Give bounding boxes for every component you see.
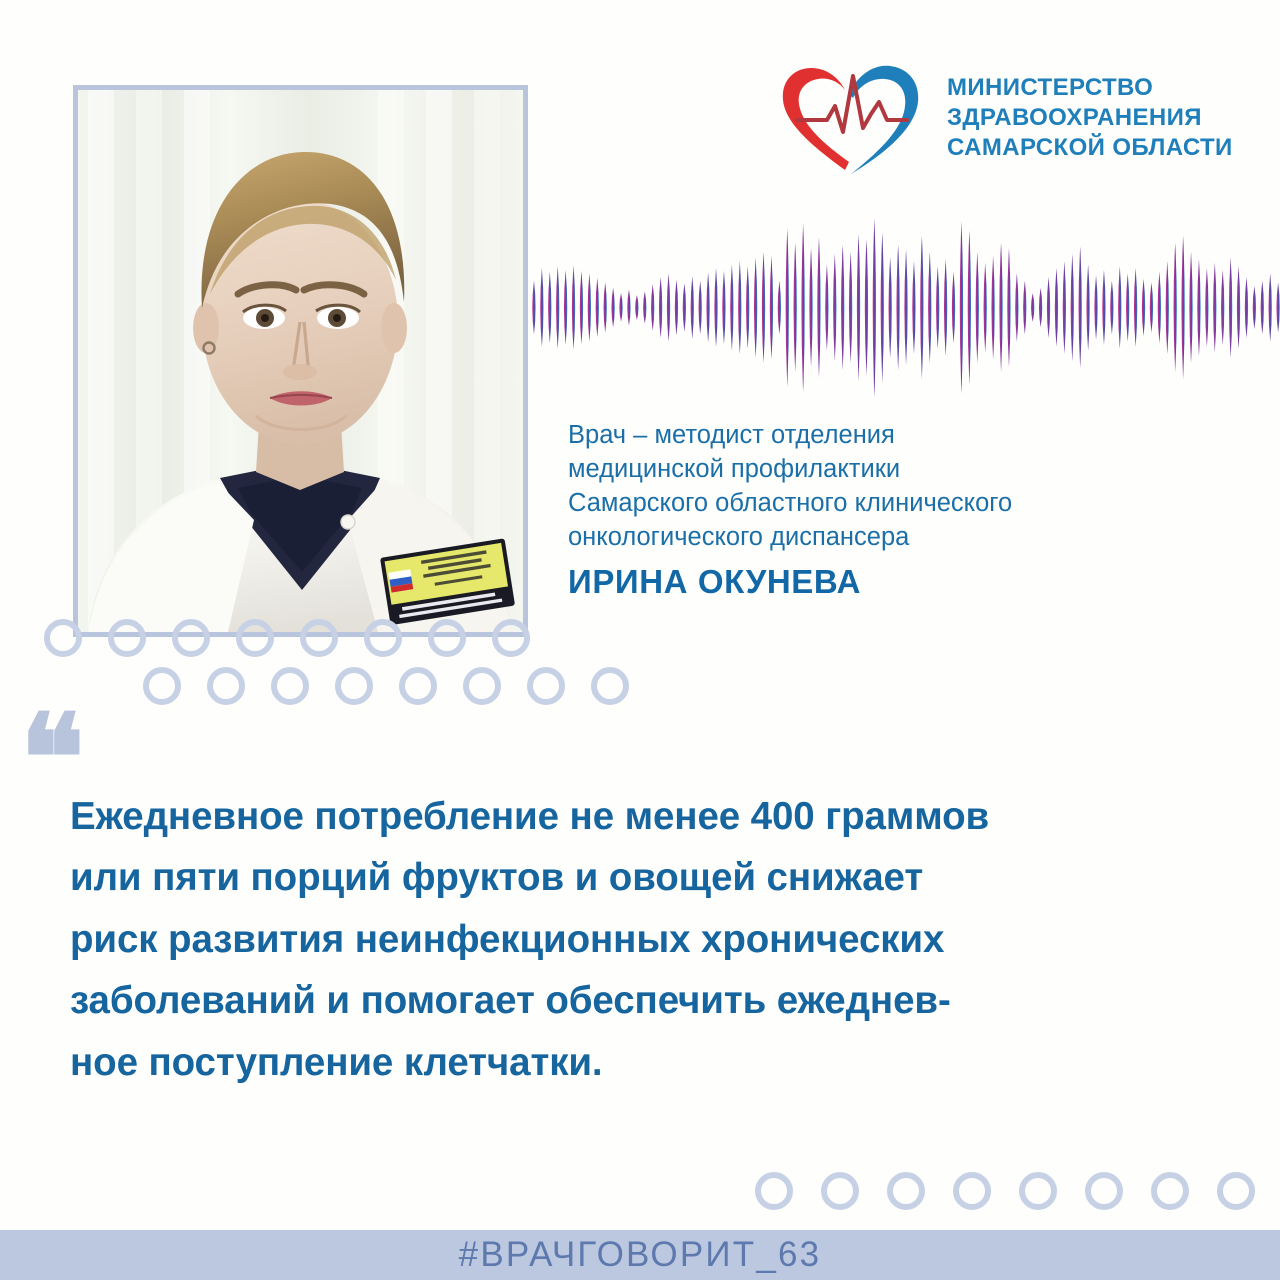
waveform-bar	[1079, 246, 1082, 368]
waveform-bar	[564, 270, 567, 345]
waveform-bar	[659, 277, 662, 338]
waveform-bar	[1245, 277, 1248, 338]
doctor-photo-frame	[73, 85, 528, 637]
waveform-bar	[1142, 279, 1145, 336]
waveform-bar	[580, 271, 583, 345]
decor-ring	[1151, 1172, 1189, 1210]
decor-ring	[44, 619, 82, 657]
waveform-bar	[857, 234, 860, 381]
quote-text: Ежедневное потребление не менее 400 грам…	[70, 786, 1250, 1093]
decor-ring	[335, 667, 373, 705]
decor-ring	[300, 619, 338, 657]
decor-ring	[236, 619, 274, 657]
waveform-bar	[699, 281, 702, 335]
waveform-bar	[1189, 252, 1192, 363]
waveform-bar	[754, 257, 757, 357]
waveform-bar	[976, 252, 979, 363]
waveform-bar	[572, 265, 575, 349]
waveform-bar	[1205, 268, 1208, 347]
decor-ring	[271, 667, 309, 705]
waveform-bar	[1197, 259, 1200, 356]
waveform-bar	[1150, 282, 1153, 332]
waveform-bar	[1158, 272, 1161, 344]
waveform-bar	[825, 264, 828, 350]
waveform-bar	[1276, 282, 1279, 332]
decor-ring	[463, 667, 501, 705]
decor-ring	[887, 1172, 925, 1210]
doctor-portrait-image	[78, 90, 523, 632]
waveform-bar	[920, 236, 923, 380]
waveform-bar	[738, 261, 741, 354]
decor-ring	[428, 619, 466, 657]
waveform-bar	[714, 268, 717, 347]
ministry-logo-text: МИНИСТЕРСТВО ЗДРАВООХРАНЕНИЯ САМАРСКОЙ О…	[947, 73, 1233, 164]
waveform-bar	[540, 268, 543, 347]
waveform-bar	[1055, 268, 1058, 347]
waveform-bar	[794, 243, 797, 372]
waveform-bar	[596, 278, 599, 337]
waveform-bar	[786, 229, 789, 387]
waveform-bar	[968, 230, 971, 384]
waveform-bar	[865, 239, 868, 375]
waveform-bar	[1221, 270, 1224, 345]
doctor-role: Врач – методист отделения медицинской пр…	[568, 418, 1228, 554]
bottom-banner: #ВРАЧГОВОРИТ_63	[0, 1230, 1280, 1280]
waveform-bar	[1253, 286, 1256, 329]
waveform-bar	[532, 281, 535, 335]
decor-ring	[364, 619, 402, 657]
decor-ring	[821, 1172, 859, 1210]
decor-ring	[143, 667, 181, 705]
waveform-bar	[1229, 257, 1232, 357]
waveform-bar	[691, 276, 694, 339]
waveform-bar	[627, 290, 630, 326]
decor-ring	[1217, 1172, 1255, 1210]
decor-ring	[399, 667, 437, 705]
decor-circle-row-bottom	[755, 1172, 1280, 1210]
waveform-bar	[984, 263, 987, 353]
decor-ring	[492, 619, 530, 657]
waveform-bar	[944, 259, 947, 356]
waveform-bar	[873, 218, 876, 397]
waveform-bar	[896, 245, 899, 371]
waveform-bar	[1181, 236, 1184, 380]
waveform-bar	[928, 252, 931, 363]
waveform-bar	[1031, 293, 1034, 322]
decor-ring	[953, 1172, 991, 1210]
waveform-bar	[762, 252, 765, 363]
waveform-bar	[1269, 273, 1272, 341]
waveform-bar	[604, 282, 607, 332]
waveform-bar	[706, 273, 709, 343]
waveform-bar	[1094, 275, 1097, 340]
waveform-bar	[889, 257, 892, 357]
waveform-bar	[1126, 273, 1129, 341]
campaign-hashtag: #ВРАЧГОВОРИТ_63	[459, 1235, 822, 1275]
waveform-bar	[651, 284, 654, 331]
decor-circle-row-top	[44, 619, 530, 657]
waveform-bar	[849, 252, 852, 363]
waveform-bar	[556, 266, 559, 349]
poster-root: МИНИСТЕРСТВО ЗДРАВООХРАНЕНИЯ САМАРСКОЙ О…	[0, 0, 1280, 1280]
decor-ring	[527, 667, 565, 705]
decor-ring	[1085, 1172, 1123, 1210]
waveform-bar	[809, 248, 812, 366]
waveform-bar	[904, 250, 907, 365]
waveform-bar	[817, 238, 820, 378]
waveform-bar	[999, 243, 1002, 372]
waveform-bar	[1237, 266, 1240, 349]
waveform-bar	[912, 261, 915, 354]
waveform-bar	[952, 272, 955, 344]
ministry-logo: МИНИСТЕРСТВО ЗДРАВООХРАНЕНИЯ САМАРСКОЙ О…	[775, 58, 1233, 178]
waveform-bar	[635, 295, 638, 320]
waveform-bar	[833, 254, 836, 362]
waveform-bar	[1071, 254, 1074, 362]
waveform-bar	[1261, 281, 1264, 335]
waveform-bar	[611, 288, 614, 327]
waveform-bar	[1047, 277, 1050, 338]
decor-ring	[108, 619, 146, 657]
waveform-bar	[1102, 270, 1105, 345]
decor-ring	[207, 667, 245, 705]
waveform-bar	[667, 273, 670, 341]
waveform-bar	[1134, 268, 1137, 347]
waveform-bar	[548, 272, 551, 344]
waveform-bar	[1118, 266, 1121, 349]
waveform-bar	[643, 291, 646, 323]
decor-circle-row-second	[143, 667, 629, 705]
audio-waveform-icon	[530, 215, 1280, 400]
waveform-bar	[675, 280, 678, 336]
waveform-bar	[1015, 273, 1018, 341]
heart-ecg-logo-icon	[775, 58, 925, 178]
waveform-bar	[960, 221, 963, 393]
waveform-bar	[722, 271, 725, 345]
waveform-bar	[1086, 264, 1089, 350]
decor-ring	[755, 1172, 793, 1210]
waveform-bar	[746, 266, 749, 349]
doctor-name: ИРИНА ОКУНЕВА	[568, 563, 1228, 601]
waveform-bar	[778, 281, 781, 335]
waveform-bar	[936, 266, 939, 349]
waveform-bar	[1166, 261, 1169, 354]
waveform-bar	[1063, 261, 1066, 354]
waveform-bar	[1023, 281, 1026, 335]
waveform-bar	[1039, 288, 1042, 327]
waveform-bar	[588, 273, 591, 341]
waveform-bar	[1213, 263, 1216, 353]
waveform-bar	[683, 283, 686, 331]
decor-ring	[172, 619, 210, 657]
waveform-bar	[1007, 248, 1010, 366]
waveform-bar	[730, 264, 733, 350]
waveform-bar	[770, 255, 773, 359]
doctor-credentials: Врач – методист отделения медицинской пр…	[568, 418, 1228, 601]
waveform-bar	[1174, 243, 1177, 372]
waveform-bar	[1110, 281, 1113, 335]
decor-ring	[1019, 1172, 1057, 1210]
waveform-bar	[619, 293, 622, 322]
decor-ring	[591, 667, 629, 705]
waveform-bar	[881, 232, 884, 383]
waveform-bar	[991, 255, 994, 359]
waveform-bar	[841, 245, 844, 371]
waveform-bar	[801, 223, 804, 392]
